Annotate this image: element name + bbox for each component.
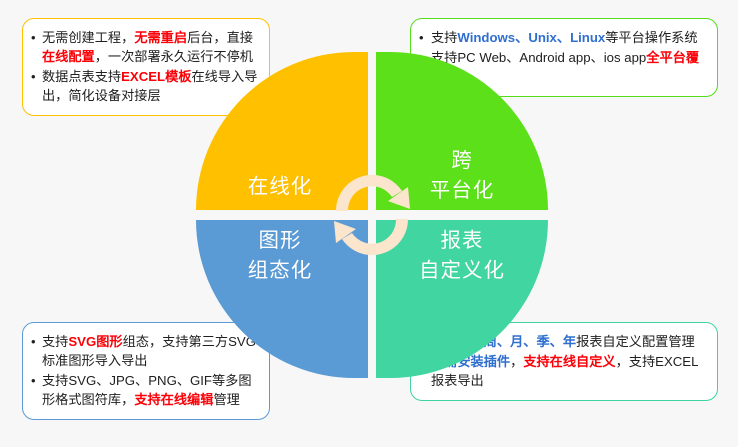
wheel-quadrant-cross-platform[interactable]: 跨 平台化: [376, 52, 548, 210]
wheel-quadrant-graphics[interactable]: 图形 组态化: [196, 220, 368, 378]
bullet-text-run: 等平台操作系统: [605, 30, 697, 45]
wheel-quadrant-report-label-1: 报表: [441, 226, 484, 256]
wheel-quadrant-cross-platform-label-1: 跨: [451, 146, 473, 176]
bullet-text-run: EXCEL模板: [121, 69, 191, 84]
bullet-text-run: 支持在线编辑: [134, 392, 213, 407]
bullet-text-run: Windows、Unix、Linux: [457, 30, 605, 45]
wheel-quadrant-graphics-label-1: 图形: [259, 226, 302, 256]
wheel-quadrant-cross-platform-label-2: 平台化: [430, 176, 495, 206]
bullet-text-run: 无需重启: [134, 30, 187, 45]
bullet-text-run: 无需创建工程，: [42, 30, 134, 45]
bullet-text-run: 后台，直接: [187, 30, 253, 45]
bullet-text-run: 在线配置: [42, 49, 95, 64]
bullet-text-run: 报表自定义配置管理: [576, 334, 695, 349]
bullet-text-run: SVG图形: [68, 334, 122, 349]
bullet-text-run: 管理: [213, 392, 239, 407]
feature-wheel: 在线化 跨 平台化 图形 组态化 报表 自定义化: [196, 52, 548, 378]
bullet-item: 支持Windows、Unix、Linux等平台操作系统: [419, 28, 707, 47]
bullet-text-run: 数据点表支持: [42, 69, 121, 84]
wheel-quadrant-report[interactable]: 报表 自定义化: [376, 220, 548, 378]
wheel-quadrant-graphics-label-2: 组态化: [248, 256, 313, 286]
bullet-text-run: 支持: [431, 30, 457, 45]
bullet-text-run: 支持: [42, 334, 68, 349]
wheel-quadrant-report-label-2: 自定义化: [419, 256, 505, 286]
infographic-canvas: 无需创建工程，无需重启后台，直接在线配置，一次部署永久运行不停机数据点表支持EX…: [0, 0, 738, 447]
wheel-quadrant-online-label-1: 在线化: [248, 172, 313, 202]
wheel-quadrant-online[interactable]: 在线化: [196, 52, 368, 210]
